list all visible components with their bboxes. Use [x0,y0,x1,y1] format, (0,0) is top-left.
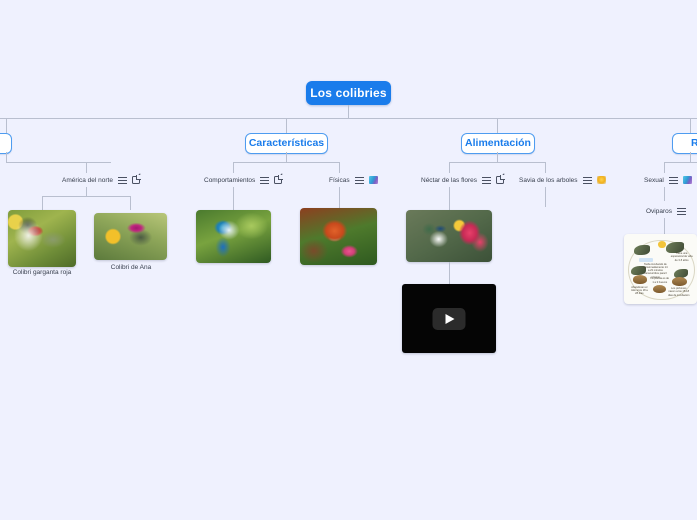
image-thumbnail-icon[interactable] [683,176,692,184]
branch-node-reproduccion-label: Repr [691,137,697,149]
connector-reproduccion-to-sexual [664,162,665,173]
caption-colibri-garganta-roja: Colibri garganta roja [0,269,84,276]
video-play-button[interactable] [433,308,466,330]
subnode-comportamientos[interactable]: Comportamientos [204,174,282,186]
connector-drop-reproduccion [690,118,691,134]
connector-drop-caracteristicas [286,118,287,134]
external-link-icon[interactable] [496,176,504,184]
subnode-savia-de-los-arboles[interactable]: Savia de los arboles [519,174,606,186]
subnode-america-del-norte[interactable]: América del norte [62,174,140,186]
infographic-text: Tiene una esperanzal de vida de 3-5 años [669,252,694,262]
infographic-text: Abandonan el nido a los 18 a 28 dias [630,286,649,296]
branch-node-alimentacion[interactable]: Alimentación [461,133,535,154]
subnode-fisicas-label: Físicas [329,177,350,184]
connector-alimentacion-bus [449,162,546,163]
subnode-nectar-label: Néctar de las flores [421,177,477,184]
subnode-comportamientos-label: Comportamientos [204,177,255,184]
connector-root-stem [348,105,349,118]
root-node[interactable]: Los colibries [306,81,391,105]
connector-caracteristicas-to-fisicas [339,162,340,173]
connector-alimentacion-to-nectar [449,162,450,173]
list-icon[interactable] [482,176,491,185]
list-icon[interactable] [669,176,678,185]
root-node-label: Los colibries [310,86,387,100]
connector-level2-bus [0,118,697,119]
hummingbird-lifecycle-infographic[interactable]: Tiene una esperanzal de vida de 3-5 años… [624,234,697,304]
external-link-icon[interactable] [132,176,140,184]
subnode-sexual[interactable]: Sexual [644,174,692,186]
list-icon[interactable] [355,176,364,185]
play-icon [446,314,455,324]
branch-node-reproduccion[interactable]: Repr [672,133,697,154]
list-icon[interactable] [583,176,592,185]
connector-sexual-to-oviparos [664,187,665,201]
hummingbird-photo-annas[interactable] [94,213,167,260]
caption-colibri-de-ana: Colibri de Ana [90,264,172,271]
infographic-text: Los pichones nacen a los 15-18 dias de i… [668,287,690,297]
hummingbird-photo-blue-green-flight[interactable] [196,210,271,263]
connector-savia-stem [545,187,546,207]
mindmap-canvas[interactable]: Los colibries t Características Alimenta… [0,0,697,520]
hummingbird-photo-white-necked-jacobin[interactable] [406,210,492,262]
connector-drop-alimentacion [497,118,498,134]
connector-nectar-to-photo [449,187,450,210]
image-thumbnail-icon[interactable] [369,176,378,184]
external-link-icon[interactable] [274,176,282,184]
info-box [639,258,654,262]
connector-habitat-to-america [86,162,87,173]
connector-habitat-bus [6,162,111,163]
connector-fisicas-to-photo [339,187,340,210]
subnode-oviparos-label: Oviparos [646,208,672,215]
subnode-nectar-de-las-flores[interactable]: Néctar de las flores [421,174,504,186]
subnode-america-del-norte-label: América del norte [62,177,113,184]
connector-america-to-photo1 [42,196,43,210]
subnode-sexual-label: Sexual [644,177,664,184]
connector-habitat-stem [6,152,7,162]
connector-america-bus [42,196,131,197]
connector-oviparos-to-infographic [664,218,665,234]
branch-node-habitat[interactable]: t [0,133,12,154]
list-icon[interactable] [260,176,269,185]
connector-alimentacion-to-savia [545,162,546,173]
connector-reproduccion-bus [664,162,697,163]
branch-node-caracteristicas[interactable]: Características [245,133,328,154]
connector-caracteristicas-bus [233,162,339,163]
branch-node-caracteristicas-label: Características [249,137,324,149]
connector-reproduccion-stem [690,152,691,162]
connector-caracteristicas-to-comportamientos [233,162,234,173]
subnode-fisicas[interactable]: Físicas [329,174,378,186]
connector-america-to-photo2 [130,196,131,210]
connector-photo5-to-video [449,262,450,284]
image-thumbnail-icon[interactable] [597,176,606,184]
hummingbird-video[interactable] [402,284,496,353]
branch-node-alimentacion-label: Alimentación [465,137,531,149]
connector-america-stem [86,187,87,196]
list-icon[interactable] [118,176,127,185]
connector-drop-habitat [6,118,7,134]
subnode-savia-label: Savia de los arboles [519,177,578,184]
connector-comportamientos-to-photo [233,187,234,210]
hummingbird-photo-rufous[interactable] [300,208,377,265]
hummingbird-photo-ruby-throated[interactable] [8,210,76,267]
connector-caracteristicas-stem [286,152,287,162]
list-icon[interactable] [677,207,686,216]
subnode-oviparos[interactable]: Oviparos [646,205,686,217]
connector-alimentacion-stem [497,152,498,162]
infographic-text: La puesta es de 1 a 3 huevos [650,277,669,283]
